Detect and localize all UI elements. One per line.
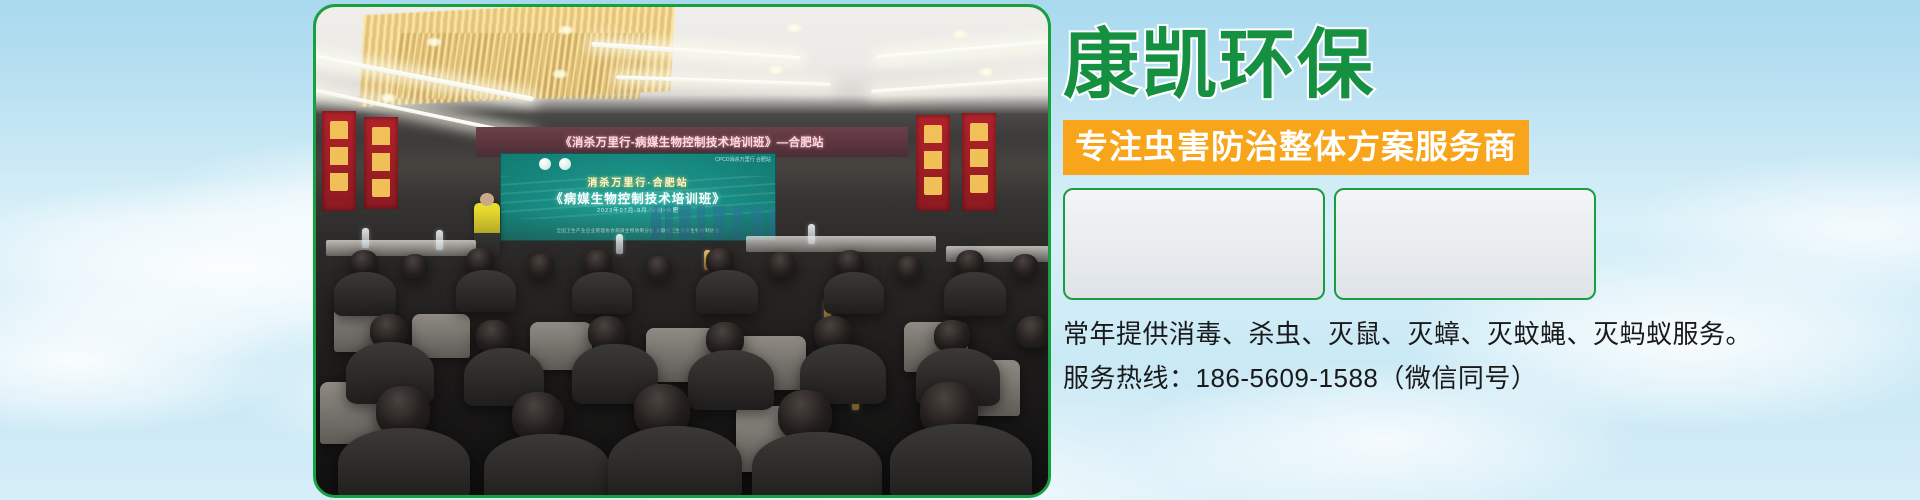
water-bottle — [362, 228, 369, 248]
led-logo-dot-left — [539, 158, 551, 170]
water-bottle — [808, 224, 815, 244]
ceiling-spotlight — [768, 65, 784, 75]
team-photo-arms-crossed — [1334, 188, 1596, 300]
ceiling-spotlight — [426, 37, 442, 47]
audience-head — [402, 254, 428, 279]
audience-shoulders — [338, 428, 470, 498]
promotional-banner: 《消杀万里行-病媒生物控制技术培训班》—合肥站 CPCO消杀万里行 合肥站 消杀… — [0, 0, 1920, 500]
hotline-text: 服务热线：186-5609-1588（微信同号） — [1063, 358, 1663, 398]
audience-head — [528, 254, 554, 278]
company-name-title: 康凯环保 — [1063, 28, 1663, 104]
ceiling-spotlight — [552, 69, 568, 79]
led-title-line-1: 消杀万里行·合肥站 — [501, 174, 775, 189]
audience-shoulders — [944, 272, 1006, 316]
conference-table — [746, 236, 936, 252]
wall-vertical-banner — [962, 113, 996, 211]
audience-shoulders — [456, 270, 516, 312]
audience-shoulders — [572, 272, 632, 314]
ceiling-spotlight — [978, 67, 994, 77]
audience-head — [512, 392, 564, 440]
audience-head — [646, 256, 672, 280]
ceiling-spotlight — [558, 25, 574, 35]
ceiling-spotlight — [952, 29, 968, 39]
audience-shoulders — [484, 434, 610, 498]
team-photo-thumbs-up — [1063, 188, 1325, 300]
company-tagline-banner: 专注虫害防治整体方案服务商 — [1063, 120, 1529, 175]
led-corner-label: CPCO消杀万里行 合肥站 — [715, 157, 771, 164]
audience-shoulders — [890, 424, 1032, 498]
team-photo-row — [1063, 188, 1663, 300]
led-logo-dot-right — [559, 158, 571, 170]
wall-vertical-banner — [364, 117, 398, 209]
audience-shoulders — [334, 272, 396, 316]
services-description: 常年提供消毒、杀虫、灭鼠、灭蟑、灭蚊蝇、灭蚂蚁服务。 — [1063, 314, 1663, 354]
ceiling-spotlight — [380, 93, 396, 103]
ceiling-spotlight — [786, 23, 802, 33]
audience-shoulders — [688, 350, 774, 410]
audience-head — [768, 252, 796, 278]
wall-vertical-banner — [916, 115, 950, 211]
audience-shoulders — [752, 432, 882, 498]
stage-banner-text: 《消杀万里行-病媒生物控制技术培训班》—合肥站 — [560, 134, 824, 150]
audience-shoulders — [608, 426, 742, 498]
audience-shoulders — [696, 270, 758, 314]
audience-shoulders — [824, 272, 884, 314]
water-bottle — [436, 230, 443, 250]
led-title-line-2: 《病媒生物控制技术培训班》 — [501, 188, 775, 207]
audience-head — [1016, 316, 1050, 348]
audience-head — [896, 256, 922, 280]
wall-vertical-banner — [322, 111, 356, 211]
water-bottle — [616, 234, 623, 254]
training-session-photo: 《消杀万里行-病媒生物控制技术培训班》—合肥站 CPCO消杀万里行 合肥站 消杀… — [313, 4, 1051, 498]
audience-crowd — [316, 210, 1048, 495]
audience-head — [1012, 254, 1038, 278]
brand-content-column: 康凯环保 专注虫害防治整体方案服务商 — [1063, 28, 1663, 399]
conference-table — [326, 240, 476, 256]
